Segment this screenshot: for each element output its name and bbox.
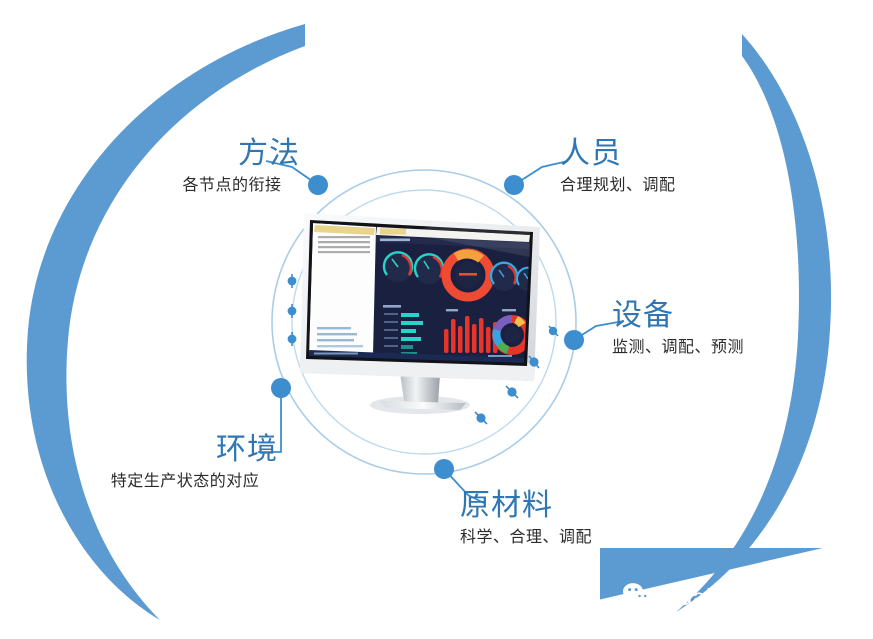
label-equipment-subtitle: 监测、调配、预测 (612, 338, 842, 359)
watermark-content: QualityIn质量学院 (622, 578, 850, 612)
label-method-subtitle: 各节点的衔接 (152, 176, 312, 197)
label-environment: 环境 特定生产状态的对应 (70, 434, 300, 492)
desktop-monitor (288, 205, 556, 420)
label-people-subtitle: 合理规划、调配 (560, 176, 790, 197)
label-people: 人员 合理规划、调配 (560, 138, 790, 196)
wechat-icon (622, 582, 652, 608)
label-equipment: 设备 监测、调配、预测 (612, 300, 842, 358)
label-environment-subtitle: 特定生产状态的对应 (70, 472, 300, 493)
label-material: 原材料 科学、合理、调配 (460, 490, 690, 548)
label-method-title: 方法 (152, 138, 312, 170)
label-method: 方法 各节点的衔接 (152, 138, 312, 196)
label-material-title: 原材料 (460, 490, 690, 522)
watermark-banner: QualityIn质量学院 (600, 548, 873, 639)
toolbar-tab (380, 229, 406, 235)
label-material-subtitle: 科学、合理、调配 (460, 528, 690, 549)
watermark-text: QualityIn质量学院 (661, 578, 850, 612)
label-people-title: 人员 (560, 138, 790, 170)
infographic-canvas: 方法 各节点的衔接 人员 合理规划、调配 设备 监测、调配、预测 环境 特定生产… (0, 0, 873, 639)
label-equipment-title: 设备 (612, 300, 842, 332)
left-arc (27, 24, 305, 620)
label-environment-title: 环境 (70, 434, 300, 466)
